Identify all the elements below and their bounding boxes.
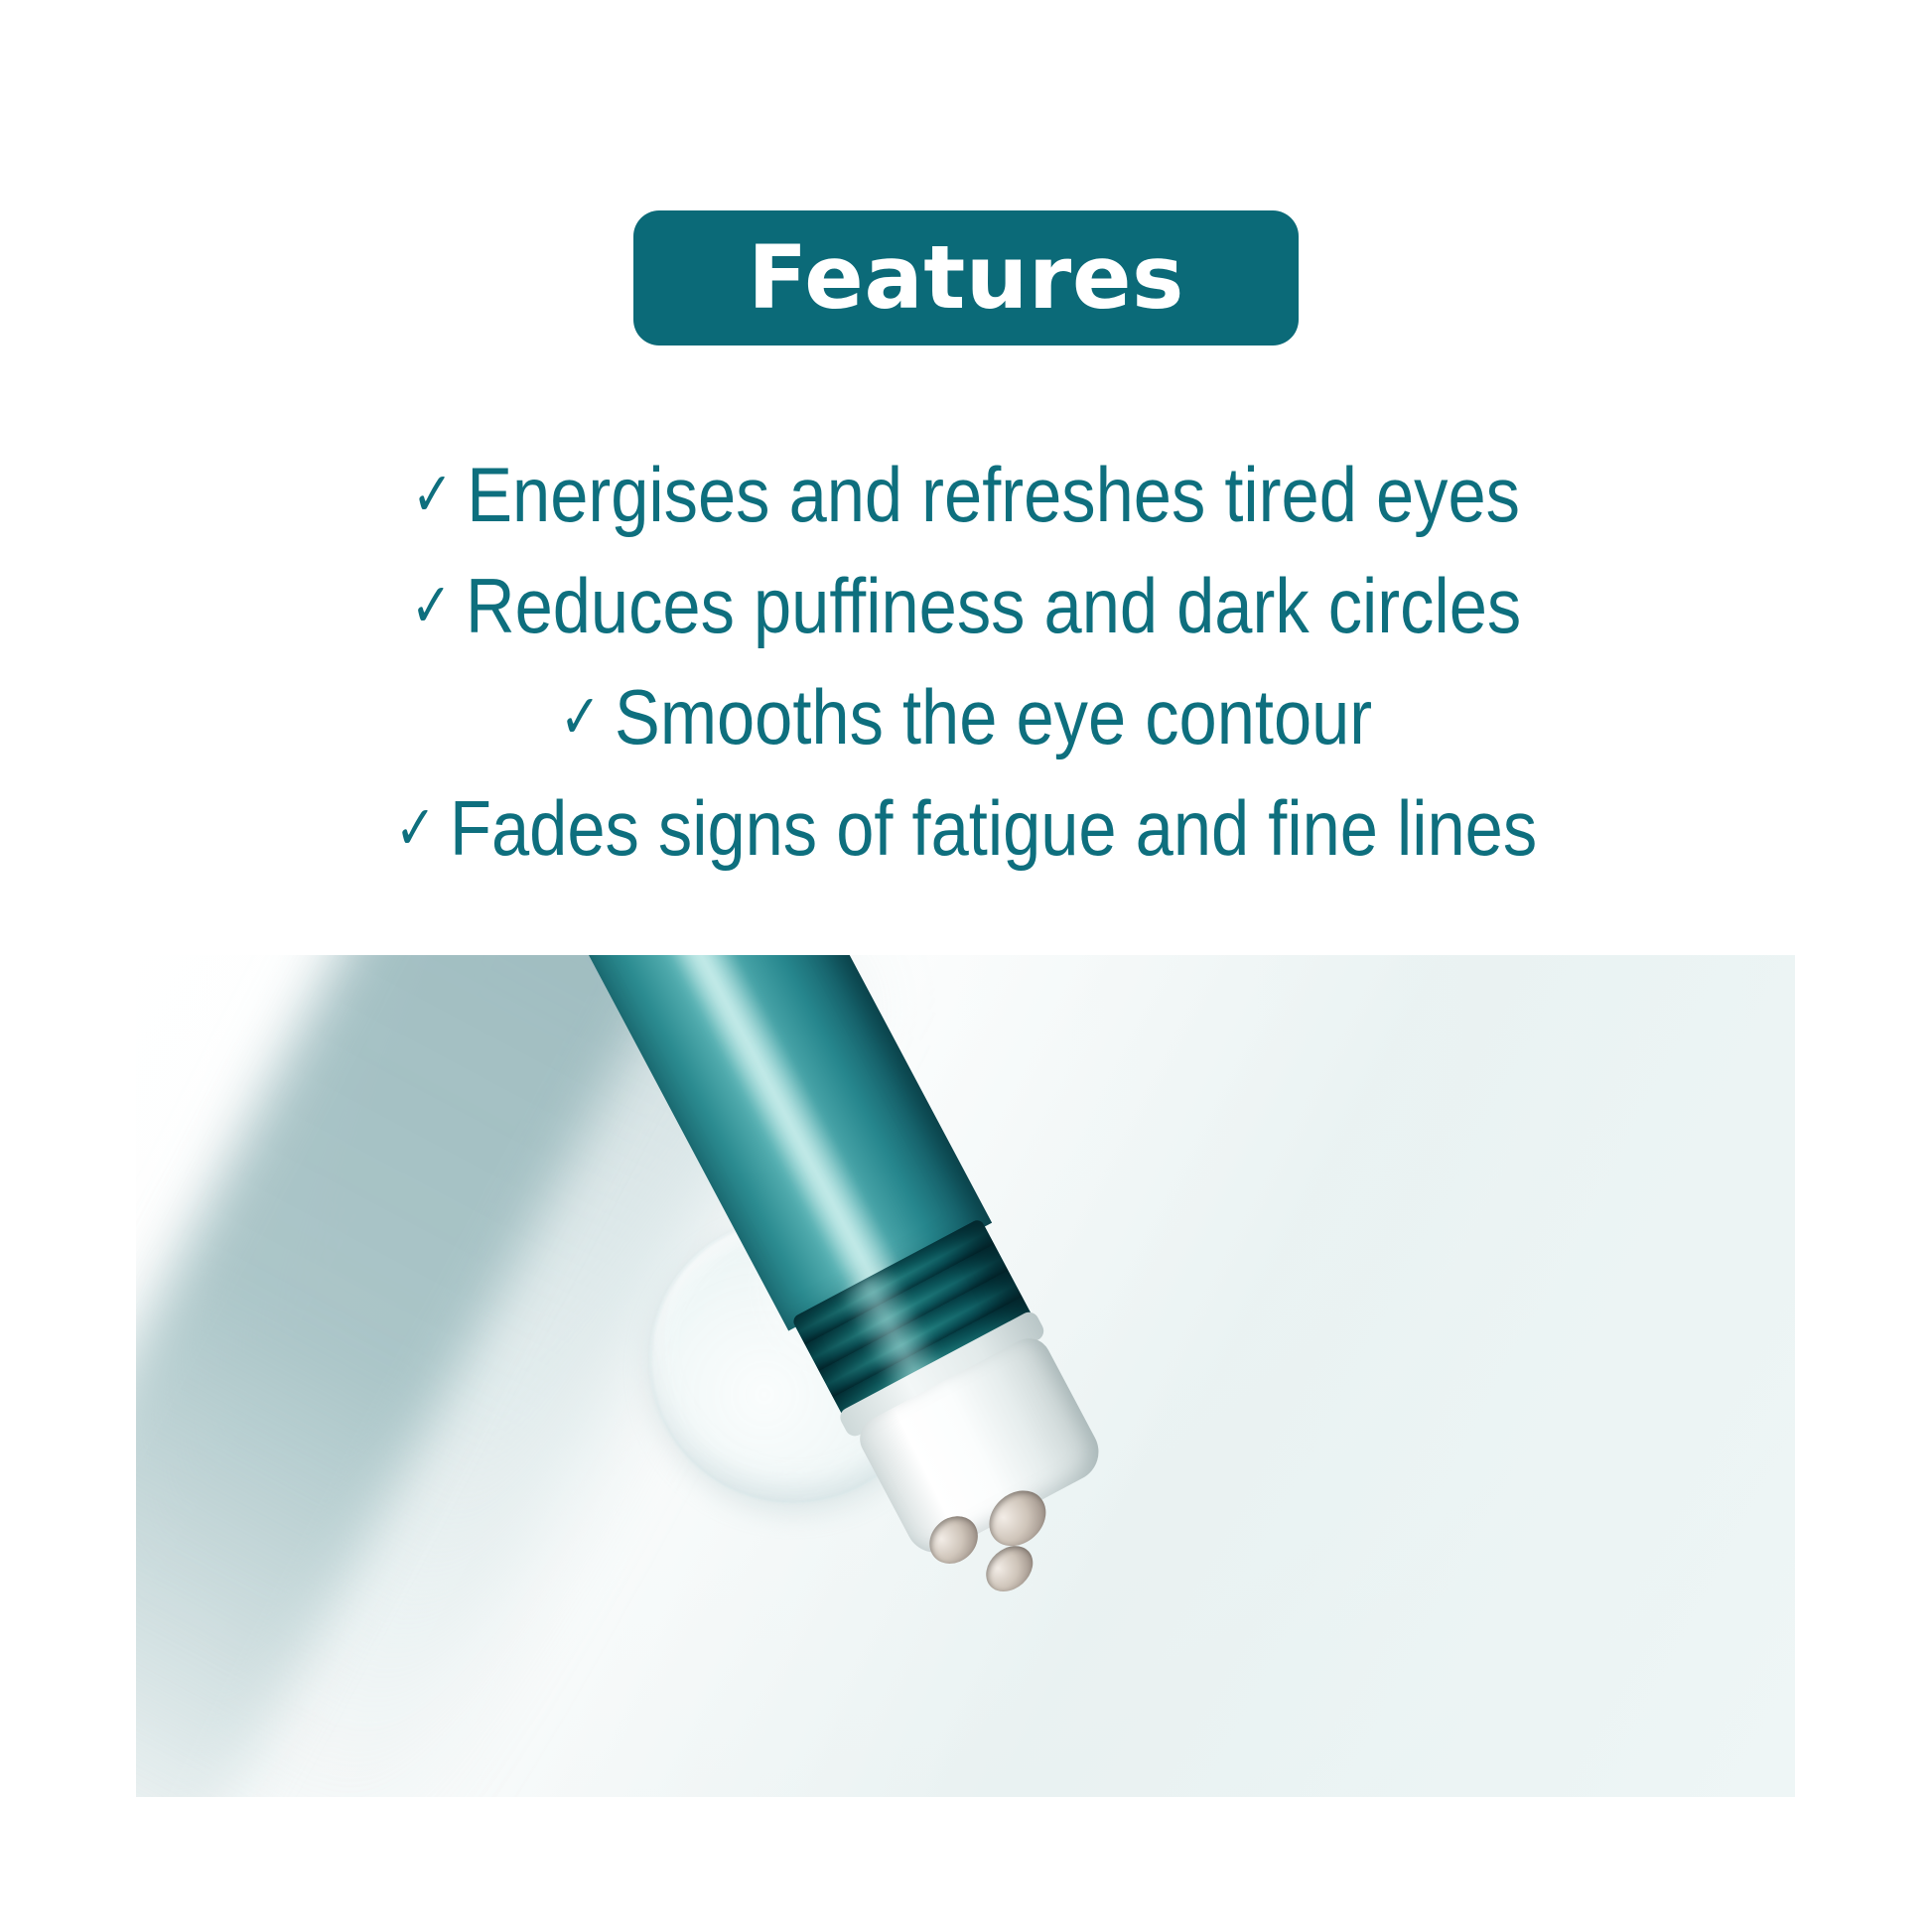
check-icon: ✓ <box>411 569 466 641</box>
page-title: Features <box>748 234 1184 322</box>
check-icon: ✓ <box>412 458 467 530</box>
feature-text: Fades signs of fatigue and fine lines <box>450 784 1537 872</box>
feature-text: Reduces puffiness and dark circles <box>466 562 1521 649</box>
check-icon: ✓ <box>395 791 450 864</box>
feature-text: Smooths the eye contour <box>615 673 1372 760</box>
list-item: ✓Fades signs of fatigue and fine lines <box>116 772 1816 884</box>
roller-ball-icon <box>977 1537 1041 1601</box>
feature-text: Energises and refreshes tired eyes <box>467 451 1520 538</box>
list-item: ✓Energises and refreshes tired eyes <box>116 439 1816 550</box>
feature-list: ✓Energises and refreshes tired eyes ✓Red… <box>0 439 1932 884</box>
list-item: ✓Smooths the eye contour <box>116 661 1816 772</box>
product-photo: DÉFATIGANT REGARD ANTI-FATIGUE EYE CARE <box>136 955 1795 1797</box>
check-icon: ✓ <box>560 680 615 753</box>
list-item: ✓Reduces puffiness and dark circles <box>116 550 1816 661</box>
features-header-badge: Features <box>633 210 1299 345</box>
